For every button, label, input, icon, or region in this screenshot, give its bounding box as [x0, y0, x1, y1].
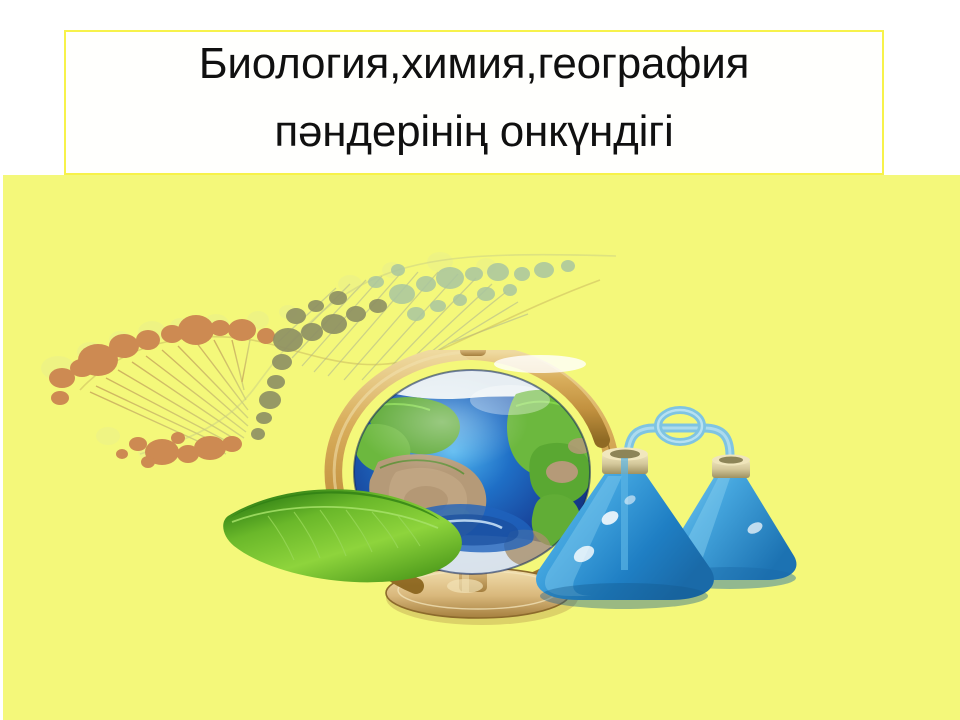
slide-title: Биология,химия,география пәндерінің онкү…	[66, 30, 882, 166]
title-textbox[interactable]: Биология,химия,география пәндерінің онкү…	[64, 30, 884, 175]
science-illustration	[210, 350, 810, 640]
presentation-slide: Биология,химия,география пәндерінің онкү…	[0, 0, 960, 720]
